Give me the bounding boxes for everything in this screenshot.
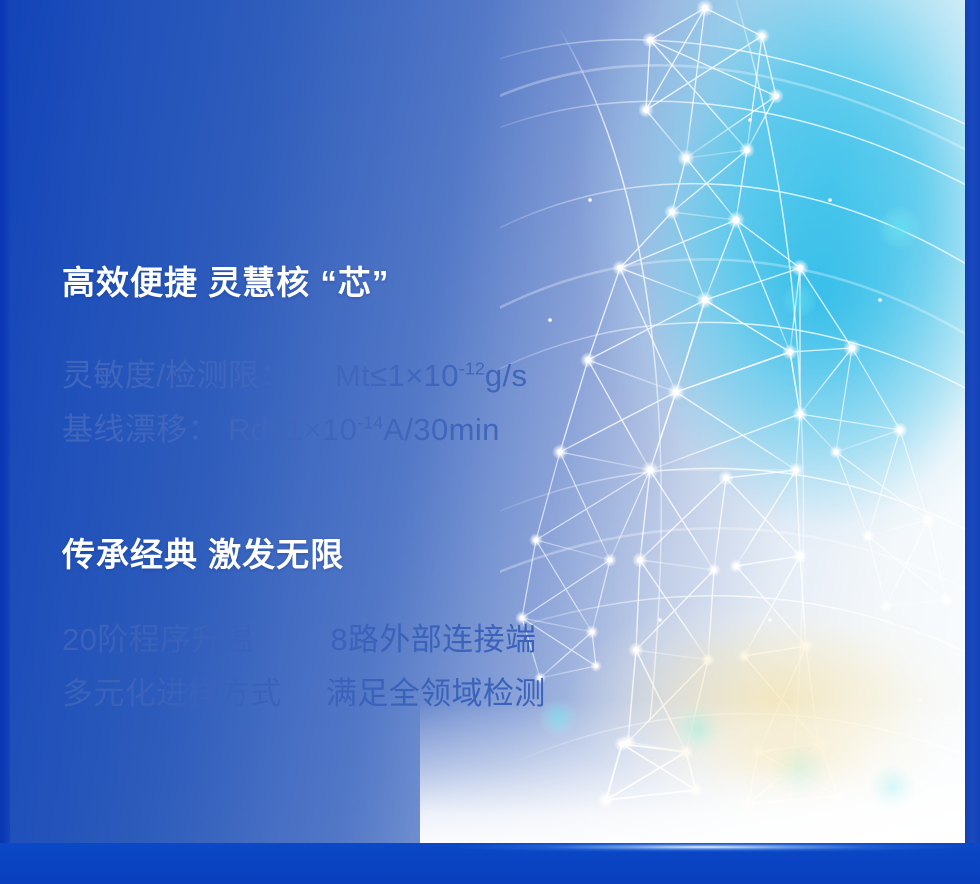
left-edge-strip (0, 0, 10, 843)
spec-value-sensitivity-prefix: Mt≤1×10 (335, 358, 459, 393)
feature-injection-modes: 多元化进样方式 (62, 676, 282, 711)
spec-value-sensitivity-suffix: g/s (485, 358, 528, 393)
spec-exponent-sensitivity: -12 (459, 359, 485, 379)
feature-full-domain-detection: 满足全领域检测 (326, 676, 546, 711)
product-feature-banner: 高效便捷 灵慧核 “芯” 灵敏度/检测限： Mt≤1×10-12g/s 基线漂移… (0, 0, 980, 884)
feature-external-ports: 8路外部连接端 (330, 622, 536, 657)
bottom-band-highlight (0, 843, 980, 852)
spec-label-baseline-drift: 基线漂移： (62, 412, 219, 447)
spec-line-baseline-drift: 基线漂移： Rd≤1×10-14A/30min (62, 404, 500, 449)
spec-value-drift-suffix: A/30min (383, 412, 500, 447)
spec-line-sensitivity: 灵敏度/检测限： Mt≤1×10-12g/s (62, 350, 527, 395)
spec-value-drift-prefix: Rd≤1×10 (228, 412, 357, 447)
section-heading-performance: 高效便捷 灵慧核 “芯” (62, 256, 389, 304)
feature-line-first: 20阶程序升温 8路外部连接端 (62, 614, 536, 659)
feature-line-second: 多元化进样方式 满足全领域检测 (62, 668, 546, 713)
feature-temperature-program: 20阶程序升温 (62, 622, 254, 657)
right-edge-strip (965, 0, 980, 843)
spec-exponent-drift: -14 (357, 413, 383, 433)
copy-block: 高效便捷 灵慧核 “芯” 灵敏度/检测限： Mt≤1×10-12g/s 基线漂移… (62, 0, 682, 843)
spec-label-sensitivity: 灵敏度/检测限： (62, 358, 291, 393)
section-heading-capability: 传承经典 激发无限 (62, 528, 344, 576)
